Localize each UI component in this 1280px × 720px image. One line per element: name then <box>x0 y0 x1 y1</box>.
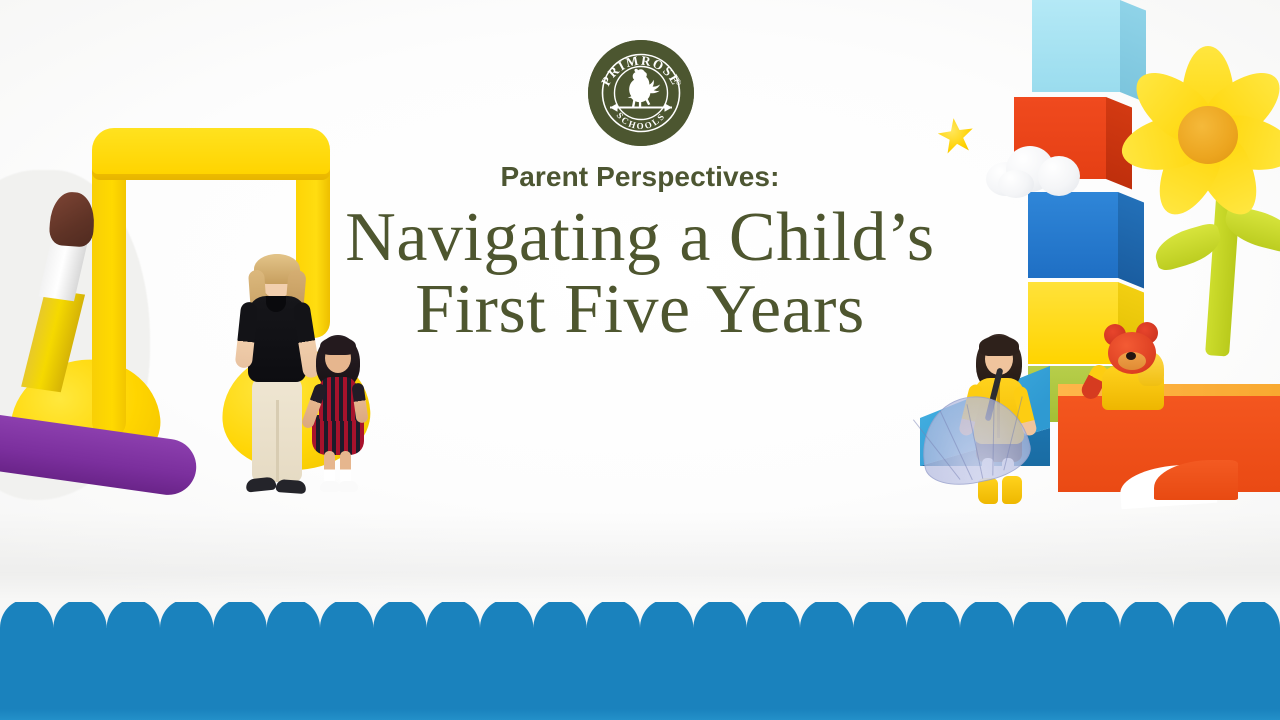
flower-center <box>1178 106 1238 164</box>
child-right-boot-right <box>1002 476 1022 504</box>
title-block: Parent Perspectives: Navigating a Child’… <box>0 160 1280 347</box>
flower-petal <box>1123 58 1223 153</box>
flower-petal <box>1182 46 1234 132</box>
child-right-leg-left <box>982 458 994 484</box>
teacher-shoe-left <box>245 476 276 492</box>
title-card: PRIMROSE SCHOOLS ® Parent Perspectives: … <box>0 0 1280 720</box>
bear-nose <box>1126 352 1136 360</box>
crayon-body <box>0 412 200 499</box>
child-raincoat-figure <box>964 334 1042 506</box>
block-green <box>1028 366 1118 422</box>
bear-hood <box>1138 352 1164 386</box>
footer-band <box>0 602 1280 720</box>
teacher-shoe-right <box>276 479 307 494</box>
child-right-head <box>985 343 1013 375</box>
child-striped-dress-figure <box>306 335 368 499</box>
purple-crayon-prop <box>0 404 215 523</box>
block-cyan <box>1032 0 1120 92</box>
music-note-head-left <box>4 352 166 487</box>
child-left-leg-left <box>324 451 335 485</box>
child-left-shoe-left <box>320 481 340 492</box>
logo-registered-mark: ® <box>676 79 682 87</box>
child-right-arm-left <box>958 383 984 437</box>
star-prop <box>936 116 977 157</box>
child-right-skirt <box>976 438 1022 462</box>
teacher-pants <box>252 376 302 482</box>
music-note-head-right <box>218 345 374 475</box>
child-left-shoe-right <box>338 481 358 492</box>
headline-line-2: First Five Years <box>0 274 1280 347</box>
footer-band-fill <box>0 628 1280 720</box>
child-left-dress-top <box>319 377 357 421</box>
headline-line-1: Navigating a Child’s <box>345 199 934 276</box>
child-right-boot-left <box>978 478 998 504</box>
child-right-arm-right <box>1012 385 1038 437</box>
umbrella-canopy <box>912 386 1036 493</box>
umbrella-handle <box>985 368 1004 422</box>
teacher-pants-seam <box>276 400 279 482</box>
bear-raincoat <box>1102 366 1164 410</box>
child-left-head <box>325 343 351 373</box>
child-left-leg-right <box>340 451 351 485</box>
child-left-arm-right <box>351 382 368 423</box>
child-right-coat-zipper <box>997 384 1000 438</box>
child-right-leg-right <box>1002 458 1014 484</box>
eyebrow-text: Parent Perspectives: <box>0 160 1280 194</box>
flower-petal <box>1193 58 1280 153</box>
umbrella-prop <box>912 386 1044 513</box>
child-left-skirt <box>312 415 364 455</box>
floor-shadow <box>0 510 1280 600</box>
child-right-raincoat <box>974 378 1024 444</box>
blue-ramp-prop <box>920 366 1050 466</box>
bear-snout <box>1118 352 1146 370</box>
primrose-schools-logo: PRIMROSE SCHOOLS ® <box>588 40 694 146</box>
child-left-arm-left <box>300 382 327 429</box>
page-title: Navigating a Child’s First Five Years <box>0 202 1280 348</box>
orange-arrow-block-prop <box>1058 384 1280 502</box>
bear-arm-left <box>1079 362 1112 402</box>
rooster-weathervane-icon: PRIMROSE SCHOOLS ® <box>588 40 694 146</box>
